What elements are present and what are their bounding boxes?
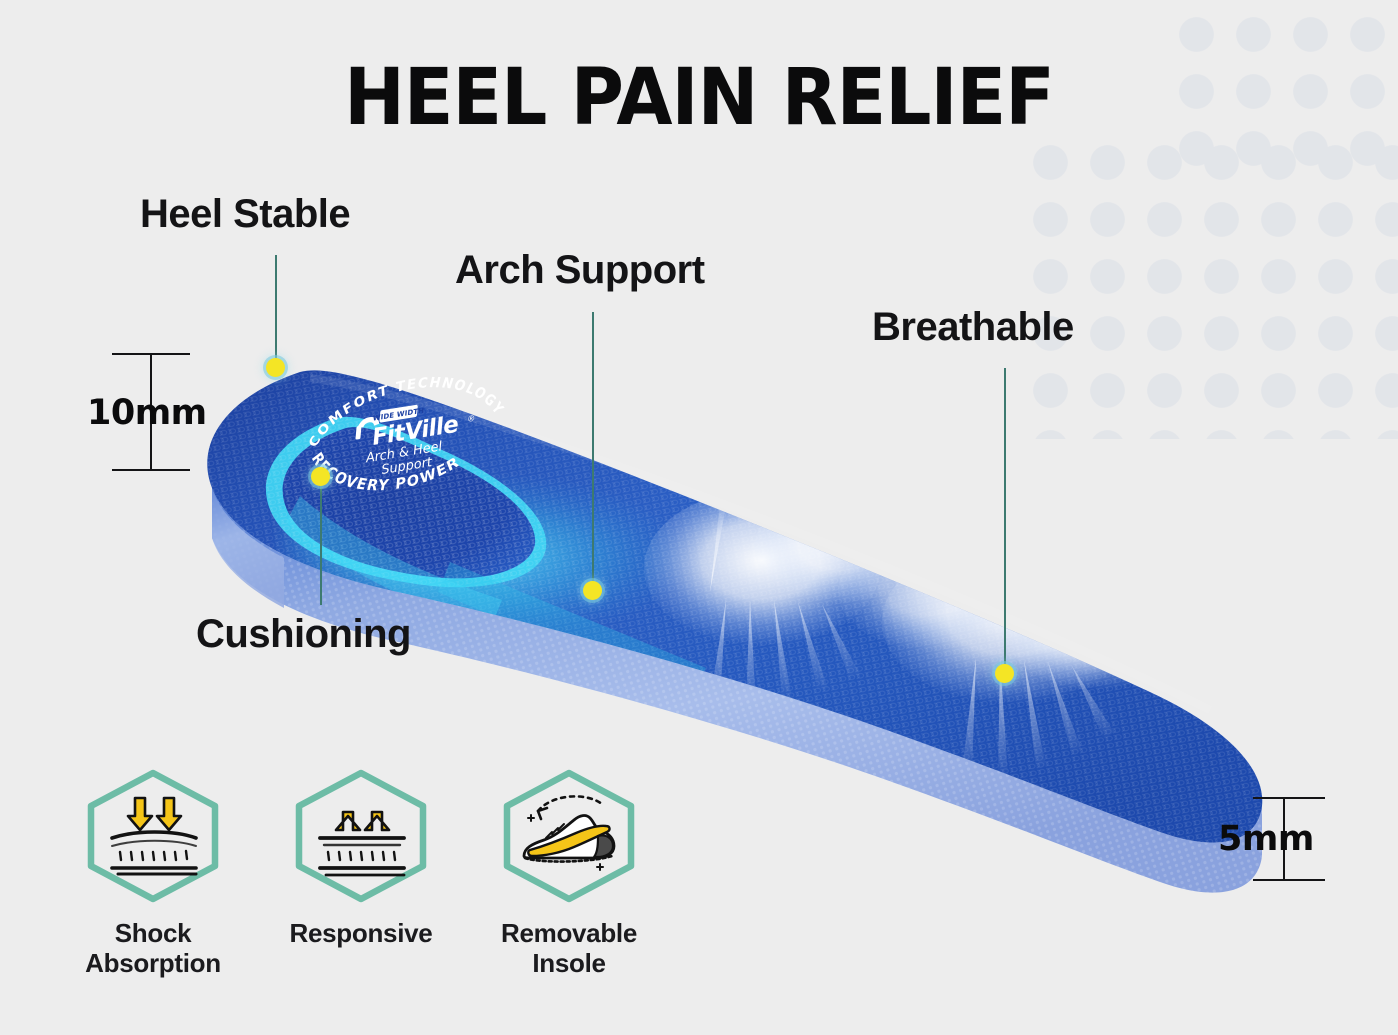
dimension-marker-heel-thickness: 10mm xyxy=(112,353,222,471)
feature-removable-insole[interactable]: Removable Insole xyxy=(474,768,664,978)
callout-label-breathable: Breathable xyxy=(872,305,1074,349)
callout-label-arch-support: Arch Support xyxy=(455,248,705,292)
anchor-dot-arch-support xyxy=(583,581,602,600)
down-arrows-cushion-icon xyxy=(112,798,196,874)
hexagon-badge xyxy=(78,768,228,904)
anchor-dot-heel-stable xyxy=(266,358,285,377)
leader-line-cushioning xyxy=(320,481,322,605)
feature-responsive[interactable]: Responsive xyxy=(266,768,456,948)
feature-label-shock-absorption: Shock Absorption xyxy=(58,918,248,978)
feature-label-responsive: Responsive xyxy=(266,918,456,948)
page-title: HEEL PAIN RELIEF xyxy=(49,58,1349,138)
anchor-dot-breathable xyxy=(995,664,1014,683)
feature-shock-absorption[interactable]: Shock Absorption xyxy=(58,768,248,978)
leader-line-breathable xyxy=(1004,368,1006,673)
up-arrows-cushion-icon xyxy=(320,812,404,875)
dimension-value-10mm: 10mm xyxy=(87,393,207,433)
feature-badge-row: Shock Absorption xyxy=(58,768,698,998)
leader-line-arch-support xyxy=(592,312,594,587)
infographic-canvas: HEEL PAIN RELIEF xyxy=(0,0,1398,1035)
dimension-marker-forefoot-thickness: 5mm xyxy=(1253,797,1363,881)
dimension-tick-bottom xyxy=(112,469,190,471)
dimension-tick-top xyxy=(1253,797,1325,799)
dimension-tick-bottom xyxy=(1253,879,1325,881)
anchor-dot-cushioning xyxy=(311,467,330,486)
hexagon-badge xyxy=(286,768,436,904)
dimension-value-5mm: 5mm xyxy=(1218,819,1314,859)
hexagon-badge xyxy=(494,768,644,904)
leader-line-heel-stable xyxy=(275,255,277,363)
feature-label-removable-insole: Removable Insole xyxy=(474,918,664,978)
callout-label-heel-stable: Heel Stable xyxy=(140,192,350,236)
callout-label-cushioning: Cushioning xyxy=(196,612,411,656)
shoe-insole-icon xyxy=(524,796,614,870)
